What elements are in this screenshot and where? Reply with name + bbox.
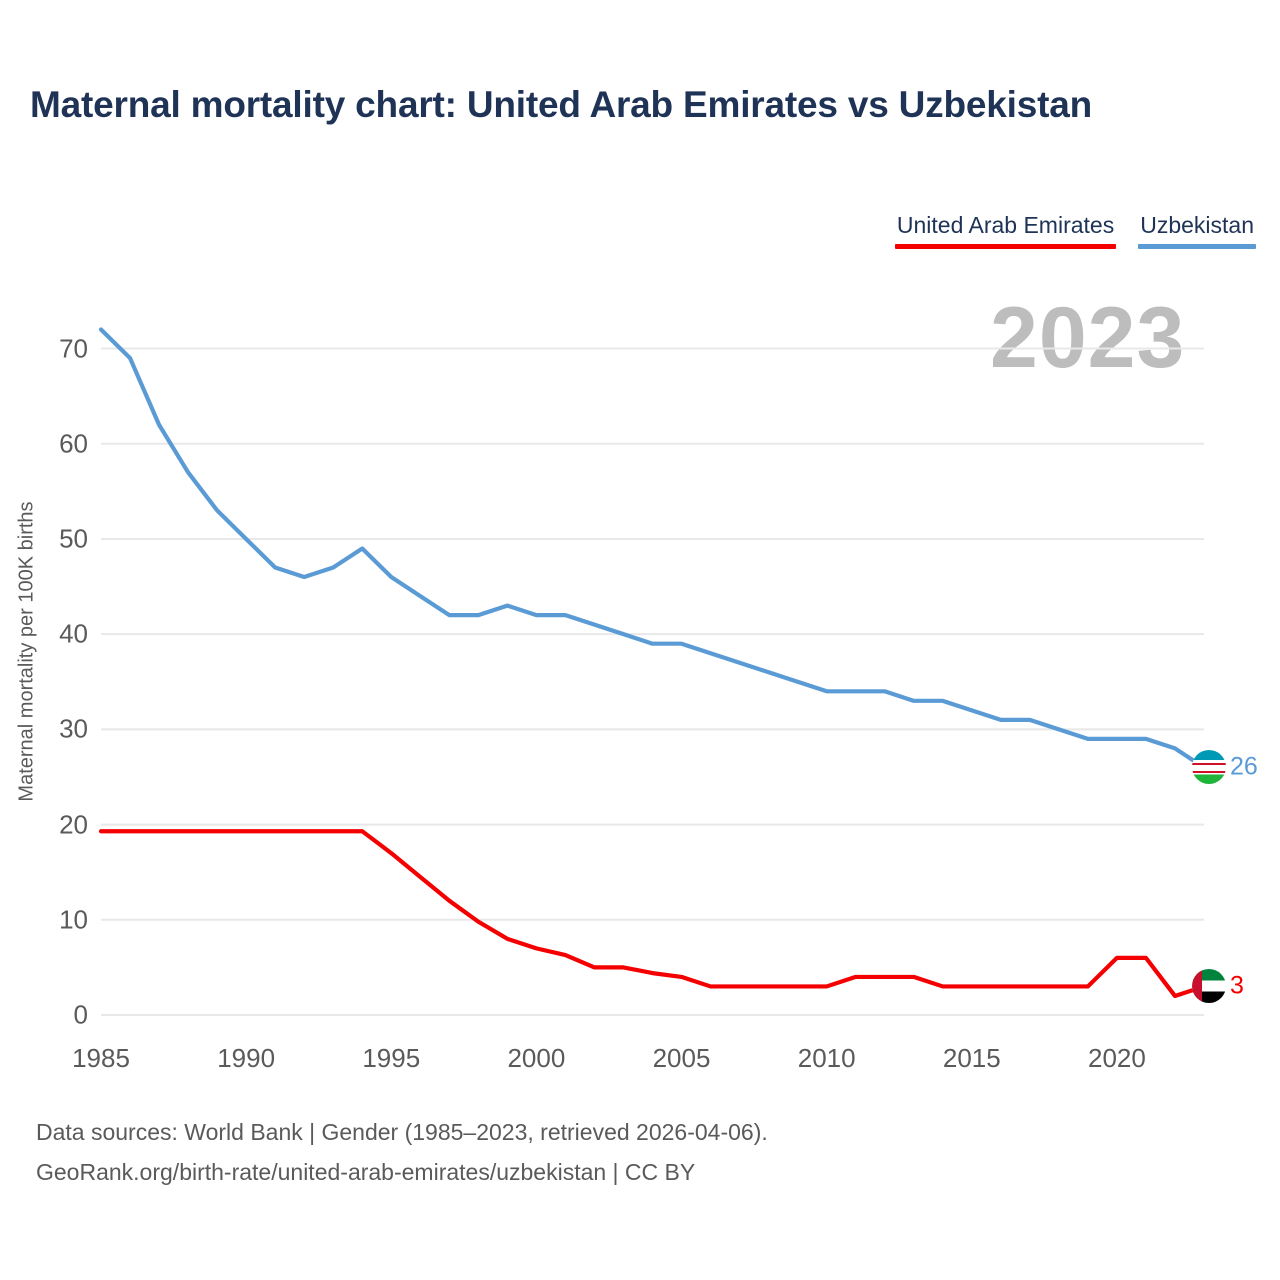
y-axis-tick: 20 bbox=[18, 809, 88, 840]
series-end-value: 26 bbox=[1230, 753, 1258, 782]
footer-sources: Data sources: World Bank | Gender (1985–… bbox=[36, 1113, 768, 1192]
chart-svg bbox=[0, 0, 1280, 1280]
x-axis-tick: 2010 bbox=[798, 1043, 856, 1074]
uzbekistan-flag bbox=[1192, 750, 1226, 784]
y-axis-tick: 50 bbox=[18, 523, 88, 554]
series-line-united-arab-emirates bbox=[101, 831, 1204, 996]
y-axis-tick: 0 bbox=[18, 1000, 88, 1031]
y-axis-tick: 10 bbox=[18, 904, 88, 935]
y-axis-tick: 70 bbox=[18, 333, 88, 364]
chart-plot-area: 2023 Maternal mortality per 100K births … bbox=[0, 0, 1280, 1280]
uae-flag bbox=[1192, 969, 1226, 1003]
series-line-uzbekistan bbox=[101, 330, 1204, 768]
x-axis-tick: 2020 bbox=[1088, 1043, 1146, 1074]
footer-line-2: GeoRank.org/birth-rate/united-arab-emira… bbox=[36, 1153, 768, 1193]
chart-page: Maternal mortality chart: United Arab Em… bbox=[0, 0, 1280, 1280]
y-axis-tick: 30 bbox=[18, 714, 88, 745]
x-axis-tick: 1995 bbox=[362, 1043, 420, 1074]
x-axis-tick: 2015 bbox=[943, 1043, 1001, 1074]
footer-line-1: Data sources: World Bank | Gender (1985–… bbox=[36, 1113, 768, 1153]
x-axis-tick: 2005 bbox=[653, 1043, 711, 1074]
x-axis-tick: 1985 bbox=[72, 1043, 130, 1074]
series-end-value: 3 bbox=[1230, 972, 1244, 1001]
x-axis-tick: 2000 bbox=[507, 1043, 565, 1074]
y-axis-tick: 40 bbox=[18, 619, 88, 650]
y-axis-tick: 60 bbox=[18, 428, 88, 459]
x-axis-tick: 1990 bbox=[217, 1043, 275, 1074]
